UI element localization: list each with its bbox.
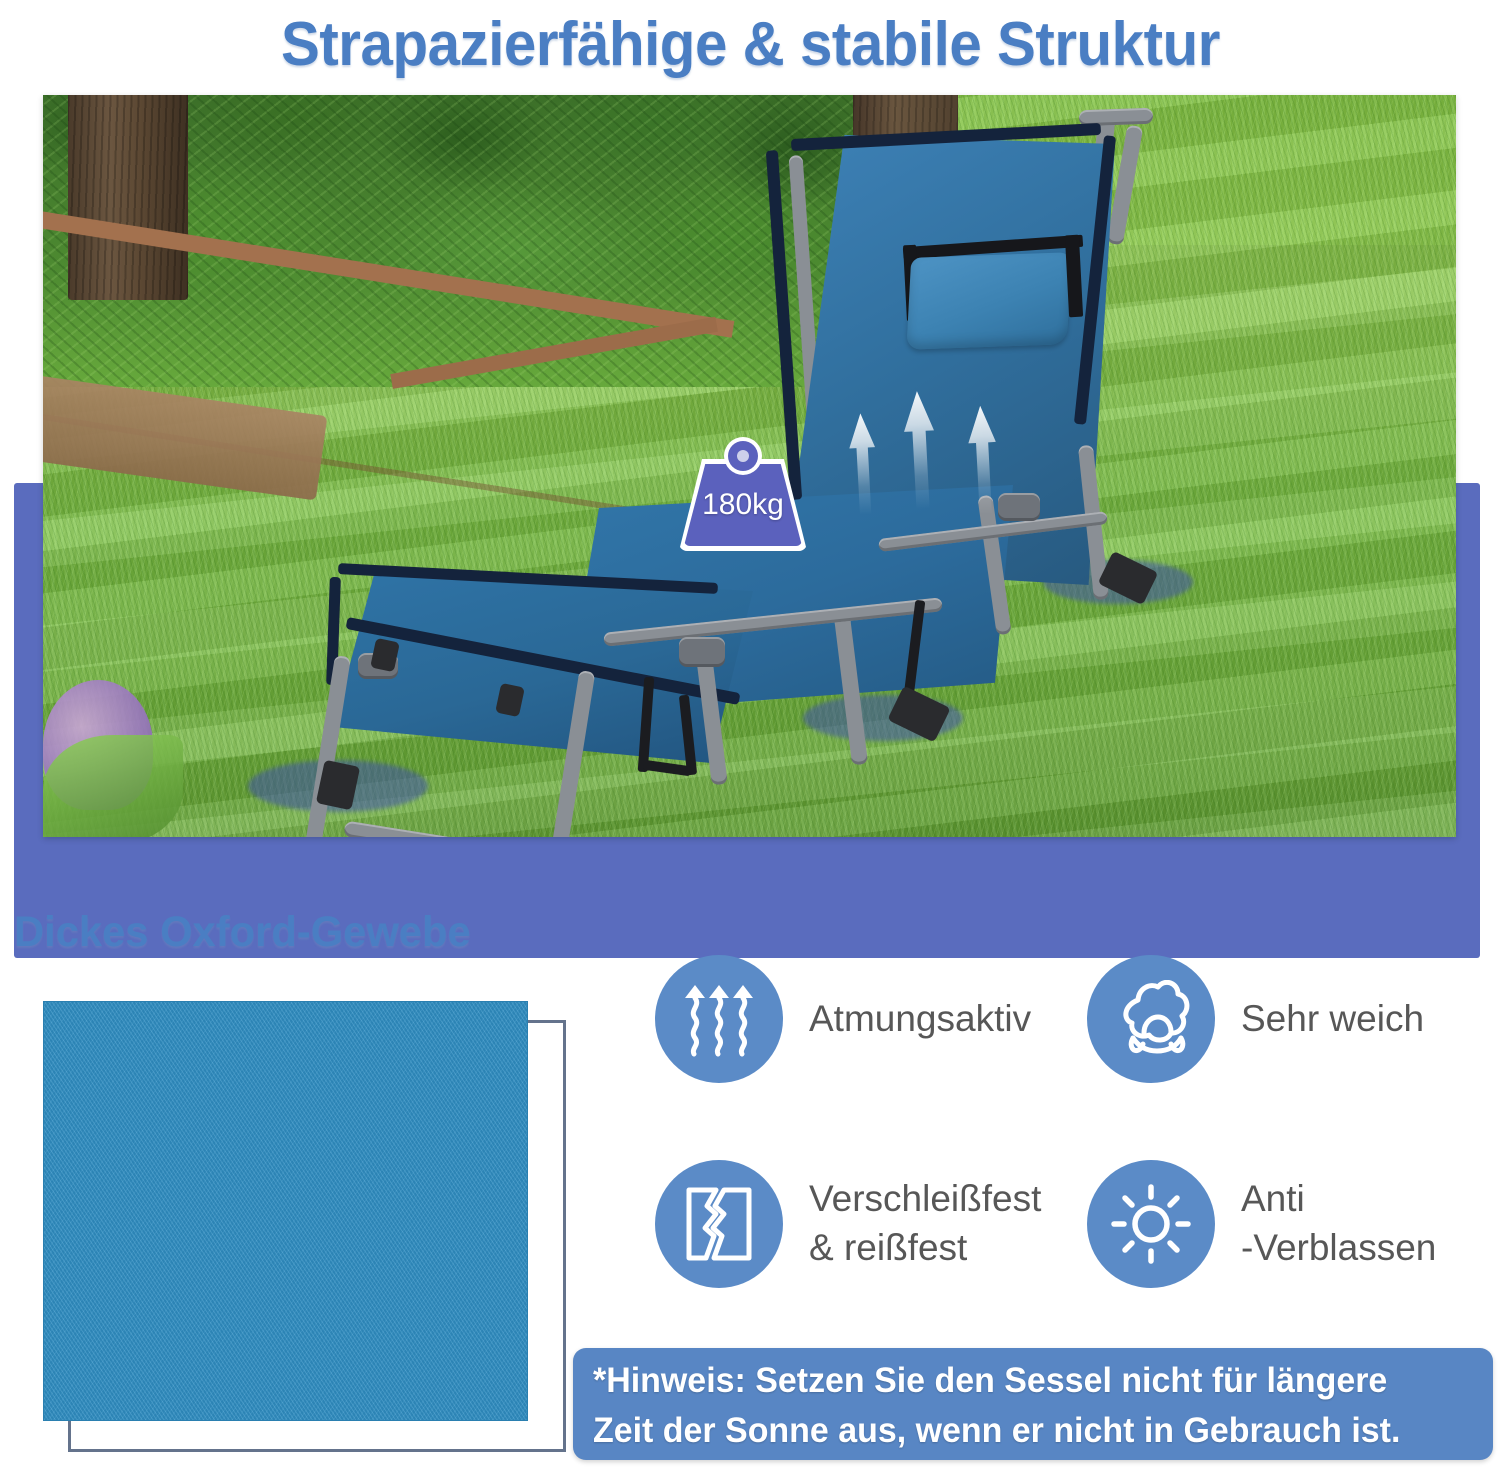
feature-list: Atmungsaktiv Sehr weich Verschleißfest &… — [655, 955, 1500, 1300]
product-photo: 180kg — [43, 95, 1456, 837]
page-title-text: Strapazierfähige & stabile Struktur — [281, 9, 1220, 80]
headrest-pillow — [906, 252, 1071, 350]
hinge-bracket-back — [998, 493, 1040, 521]
strap-loop — [643, 760, 692, 777]
hinge-bracket-seat — [679, 637, 725, 667]
feature-label: Verschleißfest & reißfest — [809, 1175, 1041, 1273]
feature-tear-resistant[interactable]: Verschleißfest & reißfest — [655, 1160, 1041, 1288]
sun-lounger: 180kg — [43, 95, 1456, 837]
sun-icon — [1087, 1160, 1215, 1288]
warning-note-box: *Hinweis: Setzen Sie den Sessel nicht fü… — [573, 1348, 1493, 1460]
page-title: Strapazierfähige & stabile Struktur — [0, 0, 1500, 88]
weight-capacity-value: 180kg — [684, 488, 802, 522]
note-line-2: Zeit der Sonne aus, wenn er nicht in Geb… — [593, 1406, 1449, 1456]
feature-label: Anti -Verblassen — [1241, 1175, 1436, 1273]
hero-section: 180kg — [0, 88, 1500, 898]
feature-soft[interactable]: Sehr weich — [1087, 955, 1424, 1083]
feature-breathable[interactable]: Atmungsaktiv — [655, 955, 1031, 1083]
weight-ring-hole — [737, 450, 749, 462]
fabric-swatch — [43, 1001, 528, 1421]
soft-pillow-icon — [1087, 955, 1215, 1083]
section-title-fabric: Dickes Oxford-Gewebe — [14, 908, 471, 957]
tear-resistant-icon — [655, 1160, 783, 1288]
note-line-1: *Hinweis: Setzen Sie den Sessel nicht fü… — [593, 1356, 1449, 1406]
weight-capacity-badge: 180kg — [684, 438, 802, 546]
feature-label: Atmungsaktiv — [809, 995, 1031, 1044]
breathable-arrows-icon — [655, 955, 783, 1083]
feature-label: Sehr weich — [1241, 995, 1424, 1044]
feature-anti-fade[interactable]: Anti -Verblassen — [1087, 1160, 1436, 1288]
